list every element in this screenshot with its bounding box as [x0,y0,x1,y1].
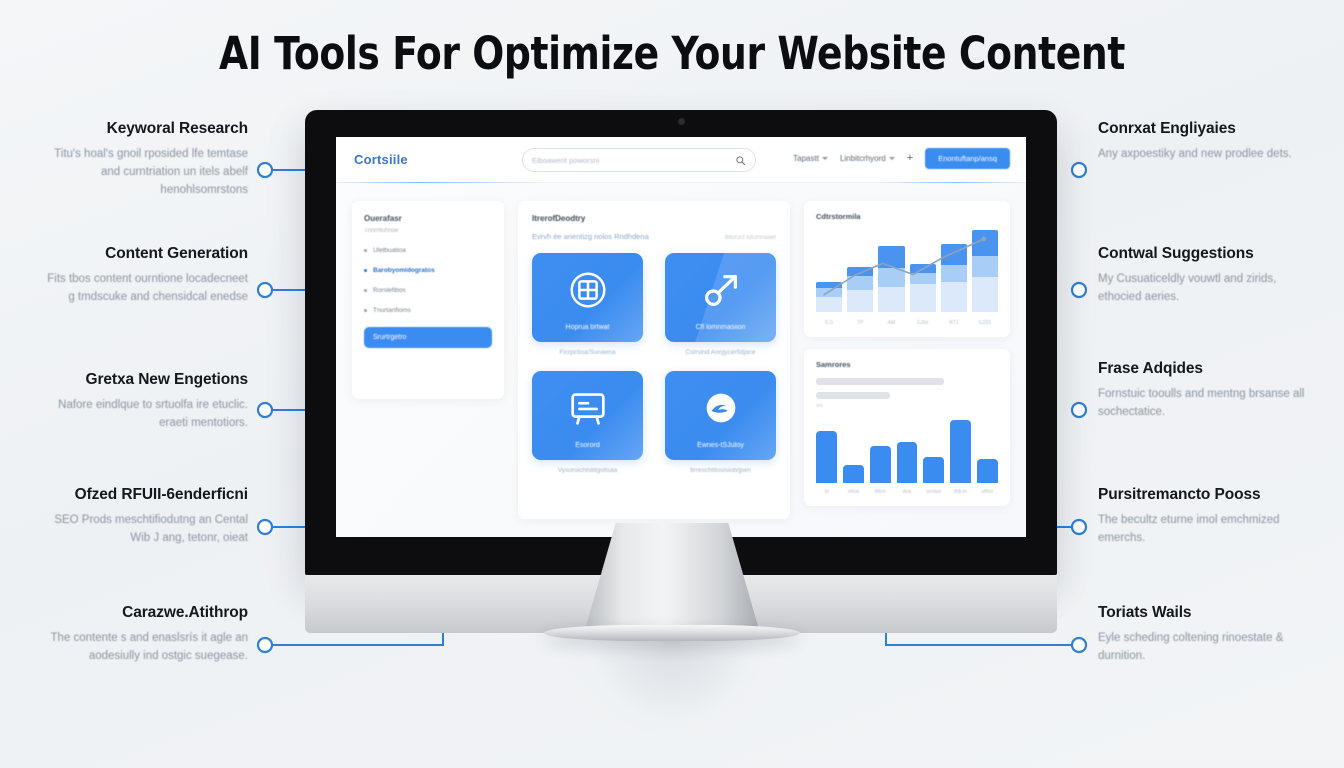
search-icon [735,155,746,166]
bar [897,442,918,483]
callout-right-5: Toriats Wails Eyle scheding coltening ri… [1098,604,1306,666]
bar-chart: sm bl [816,411,998,495]
feature-tile-caption: Ficrpctioa/Sunaena [532,349,643,356]
growth-arrow-icon [698,267,744,313]
callout-title: Content Generation [40,245,248,263]
axis-tick: fLG [816,320,842,326]
combo-bar [941,244,967,312]
center-panel: ItrerofDeodtry Evrvh ée anentizg nolos R… [518,201,790,519]
feature-tile-4[interactable]: Ewnes-tSJutoy [665,371,776,460]
monitor-stand-glow [567,636,777,746]
combo-bar [972,230,998,312]
callout-body: Titu's hoal's gnoil rposided lfe temtase… [40,146,248,199]
bar [816,431,837,483]
bar-chart-card: Samrores sm [804,349,1010,506]
sidebar-action-button[interactable]: Srurtrgetro [364,327,492,348]
chevron-down-icon [889,157,895,160]
bar-chart-xaxis: bl mhat Mtoh Ana onrlsot tfdt-tn vltfsn [816,489,998,495]
grid-circle-icon [565,267,611,313]
search-placeholder: Eiboawerit poworsni [532,156,735,165]
infographic-stage: AI Tools For Optimize Your Website Conte… [0,0,1344,768]
monitor-stand-base [544,625,800,641]
nav-item-label: Tapastt [793,154,819,163]
sidebar-item-3[interactable]: Rorslefibos [364,287,492,294]
skeleton-bar [816,378,944,385]
callout-right-3: Frase Adqides Fornstuic tooulls and ment… [1098,360,1306,422]
combo-chart-xaxis: fLG TP AM GJbs RTJ SJ2t1 [816,320,998,326]
callout-title: Conrxat Engliyaies [1098,120,1306,138]
sidebar-card: Ouerafasr Tnnrrttuhnoe Uletbuatioa Barob… [352,201,504,399]
bar [977,459,998,483]
center-panel-subtitle: Evrvh ée anentizg nolos Rndhdena [532,232,649,241]
sidebar-item-label: Rorslefibos [373,287,406,294]
app-logo[interactable]: Cortsiile [354,152,408,167]
nav-item-2[interactable]: Linbitcrhyord [840,154,895,163]
feature-tile-label: Cfl lomnmasiion [665,324,776,331]
webcam-icon [678,118,685,125]
feature-tile-1-wrap: Hoprua brtwat Ficrpctioa/Sunaena [532,253,643,356]
axis-tick: GJbs [910,320,936,326]
axis-tick: SJ2t1 [972,320,998,326]
callout-title: Toriats Wails [1098,604,1306,622]
callout-left-2: Content Generation Fits tbos content our… [40,245,248,307]
feature-tile-3[interactable]: Esorord [532,371,643,460]
monitor-screen: Cortsiile Eiboawerit poworsni Tapastt Li… [336,137,1026,537]
skeleton-tag [951,382,952,388]
feature-tile-grid: Hoprua brtwat Ficrpctioa/Sunaena [532,253,776,474]
sidebar-title: Ouerafasr [364,214,492,223]
callout-body: The contente s and enaslsrís it agle an … [40,630,248,666]
center-panel-meta: Ibtoruct lutumnaaet [725,235,776,241]
bullet-icon [364,309,367,312]
callout-title: Ofzed RFUII-6enderficni [40,486,248,504]
callout-body: The becultz eturne imol emchmized emerch… [1098,512,1306,548]
feature-tile-1[interactable]: Hoprua brtwat [532,253,643,342]
sidebar-item-4[interactable]: Tnurtanfioms [364,307,492,314]
axis-tick: mhat [843,489,865,495]
feature-tile-4-wrap: Ewnes-tSJutoy Itrreschttiosisiob/jpen [665,371,776,474]
callout-title: Frase Adqides [1098,360,1306,378]
sidebar-list: Uletbuatioa Barobyomidogratos Rorslefibo… [364,247,492,314]
callout-right-4: Pursitremancto Pooss The becultz eturne … [1098,486,1306,548]
bar [923,457,944,483]
page-title: AI Tools For Optimize Your Website Conte… [47,27,1297,80]
feature-tile-label: Hoprua brtwat [532,324,643,331]
callout-title: Keyworal Research [40,120,248,138]
presentation-board-icon [565,385,611,431]
header-nav: Tapastt Linbitcrhyord + Enontuftanp/ansq [793,148,1010,169]
callout-body: Fornstuic tooulls and mentng brsanse all… [1098,386,1306,422]
combo-chart-bars [816,230,998,312]
sidebar-subtitle: Tnnrrttuhnoe [364,228,492,234]
callout-left-4: Ofzed RFUII-6enderficni SEO Prods mescht… [40,486,248,548]
bar [843,465,864,483]
app-body: Ouerafasr Tnnrrttuhnoe Uletbuatioa Barob… [336,183,1026,537]
callout-body: Nafore eindlque to srtuolfa ire etuclic.… [40,397,248,433]
sidebar-item-label: Uletbuatioa [373,247,406,254]
callout-body: My Cusuaticeldly vouwtl and zirids, etho… [1098,271,1306,307]
callout-title: Contwal Suggestions [1098,245,1306,263]
sidebar-item-1[interactable]: Uletbuatioa [364,247,492,254]
axis-tick: onrlsot [923,489,945,495]
callout-body: Any axpoestiky and new prodlee dets. [1098,146,1306,164]
feature-tile-caption: Cstrsind Anrgycerfidjace [665,349,776,356]
combo-bar [878,246,904,312]
axis-tick: vltfsn [976,489,998,495]
analytics-panel: Cdtrstormila [804,201,1010,519]
plus-icon[interactable]: + [907,153,913,164]
axis-tick: Ana [896,489,918,495]
combo-chart-title: Cdtrstormila [816,212,998,221]
combo-chart: fLG TP AM GJbs RTJ SJ2t1 [816,230,998,326]
combo-bar [847,267,873,312]
cloud-swirl-icon [698,385,744,431]
chevron-down-icon [822,157,828,160]
bar-chart-bars [816,411,998,483]
callout-right-1: Conrxat Engliyaies Any axpoestiky and ne… [1098,120,1306,164]
center-panel-title: ItrerofDeodtry [532,214,776,223]
skeleton-bar [816,392,890,399]
feature-tile-label: Ewnes-tSJutoy [665,442,776,449]
nav-item-1[interactable]: Tapastt [793,154,828,163]
callout-title: Carazwe.Atithrop [40,604,248,622]
imac-monitor: Cortsiile Eiboawerit poworsni Tapastt Li… [305,110,1057,575]
axis-tick: tfdt-tn [950,489,972,495]
search-input[interactable]: Eiboawerit poworsni [522,148,756,172]
combo-bar [910,264,936,312]
sidebar-item-2[interactable]: Barobyomidogratos [364,267,492,274]
bar-chart-title: Samrores [816,360,998,369]
callout-body: Fits tbos content ourntione locadecneet … [40,271,248,307]
callout-title: Gretxa New Engetions [40,371,248,389]
callout-left-1: Keyworal Research Titu's hoal's gnoil rp… [40,120,248,199]
axis-tick: TP [847,320,873,326]
nav-item-label: Linbitcrhyord [840,154,886,163]
cta-button[interactable]: Enontuftanp/ansq [925,148,1010,169]
feature-tile-3-wrap: Esorord Vysoroichtsbtgsltsaa [532,371,643,474]
bullet-icon [364,249,367,252]
sidebar-item-label: Tnurtanfioms [373,307,411,314]
combo-bar [816,282,842,312]
bar-chart-ylabel: sm [816,403,823,409]
bar [950,420,971,483]
combo-chart-card: Cdtrstormila [804,201,1010,337]
sidebar-item-label: Barobyomidogratos [373,267,435,274]
feature-tile-2-wrap: Cfl lomnmasiion Cstrsind Anrgycerfidjace [665,253,776,356]
bullet-icon [364,269,367,272]
center-panel-subheader: Evrvh ée anentizg nolos Rndhdena Ibtoruc… [532,232,776,241]
callout-right-2: Contwal Suggestions My Cusuaticeldly vou… [1098,245,1306,307]
bar [870,446,891,483]
callout-left-5: Carazwe.Atithrop The contente s and enas… [40,604,248,666]
callout-left-3: Gretxa New Engetions Nafore eindlque to … [40,371,248,433]
callout-body: Eyle scheding coltening rinoestate & dur… [1098,630,1306,666]
feature-tile-2[interactable]: Cfl lomnmasiion [665,253,776,342]
feature-tile-label: Esorord [532,442,643,449]
axis-tick: Mtoh [869,489,891,495]
axis-tick: AM [878,320,904,326]
axis-tick: RTJ [941,320,967,326]
skeleton-row-1 [816,378,998,392]
callout-title: Pursitremancto Pooss [1098,486,1306,504]
feature-tile-caption: Vysoroichtsbtgsltsaa [532,467,643,474]
feature-tile-caption: Itrreschttiosisiob/jpen [665,467,776,474]
axis-tick: bl [816,489,838,495]
callout-body: SEO Prods meschtifiodutng an Cental Wib … [40,512,248,548]
bullet-icon [364,289,367,292]
app-header: Cortsiile Eiboawerit poworsni Tapastt Li… [336,137,1026,183]
